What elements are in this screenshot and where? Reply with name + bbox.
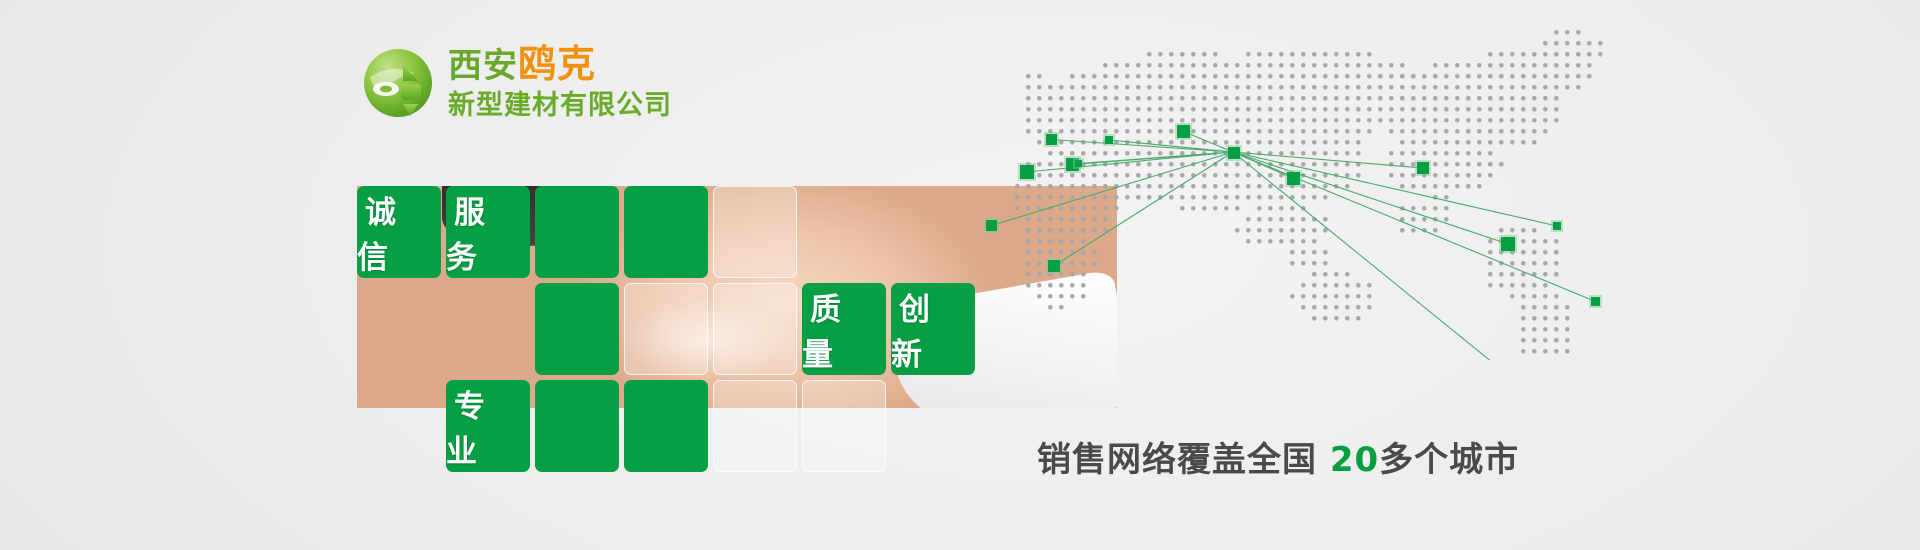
map-dot: [1235, 63, 1240, 68]
map-dot: [1103, 217, 1108, 222]
map-dot: [1323, 162, 1328, 167]
map-dot: [1048, 294, 1053, 299]
map-dot: [1026, 239, 1031, 244]
map-dot: [1510, 283, 1515, 288]
map-dot: [1312, 173, 1317, 178]
map-dot: [1037, 195, 1042, 200]
map-hub-node: [1226, 145, 1242, 161]
map-dot: [1246, 96, 1251, 101]
map-dot: [1488, 85, 1493, 90]
map-dot: [1532, 74, 1537, 79]
map-dot: [1587, 63, 1592, 68]
map-dot: [1433, 107, 1438, 112]
map-dot: [1521, 96, 1526, 101]
map-dot: [1367, 96, 1372, 101]
map-dot: [1246, 140, 1251, 145]
map-dot: [1378, 74, 1383, 79]
map-dot: [1334, 272, 1339, 277]
map-dot: [1312, 118, 1317, 123]
map-dot: [1400, 96, 1405, 101]
map-dot: [1543, 327, 1548, 332]
map-dot: [1411, 85, 1416, 90]
map-city-node: [1044, 132, 1059, 147]
map-dot: [1081, 228, 1086, 233]
map-dot: [1521, 52, 1526, 57]
map-dot: [1510, 140, 1515, 145]
map-dot: [1488, 96, 1493, 101]
map-dot: [1356, 316, 1361, 321]
map-dot: [1202, 195, 1207, 200]
map-dot: [1521, 349, 1526, 354]
map-dot: [1521, 129, 1526, 134]
map-dot: [1565, 63, 1570, 68]
map-dot: [1059, 206, 1064, 211]
map-dot: [1081, 283, 1086, 288]
map-dot: [1521, 261, 1526, 266]
map-dot: [1301, 140, 1306, 145]
map-dot: [1345, 85, 1350, 90]
map-dot: [1268, 195, 1273, 200]
map-dot: [1158, 140, 1163, 145]
map-dot: [1499, 140, 1504, 145]
map-dot: [1488, 261, 1493, 266]
map-dot: [1554, 349, 1559, 354]
map-dot: [1323, 283, 1328, 288]
map-dot: [1279, 151, 1284, 156]
map-dot: [1279, 217, 1284, 222]
map-dot: [1389, 173, 1394, 178]
map-dot: [1554, 41, 1559, 46]
map-dot: [1543, 305, 1548, 310]
map-dot: [1224, 63, 1229, 68]
map-dot: [1081, 118, 1086, 123]
map-dot: [1367, 129, 1372, 134]
map-dot: [1576, 30, 1581, 35]
map-dot: [1411, 162, 1416, 167]
map-dot: [1356, 129, 1361, 134]
map-dot: [1477, 74, 1482, 79]
map-dot: [1312, 140, 1317, 145]
map-dot: [1191, 184, 1196, 189]
map-dot: [1103, 195, 1108, 200]
map-dot: [1290, 107, 1295, 112]
map-dot: [1059, 294, 1064, 299]
map-dot: [1455, 85, 1460, 90]
value-tile-1-labeled: 服 务: [446, 186, 530, 278]
map-dot: [1367, 52, 1372, 57]
map-dot: [1103, 129, 1108, 134]
map-dot: [1312, 239, 1317, 244]
map-dot: [1081, 261, 1086, 266]
value-tile-label: 服 务: [446, 187, 530, 277]
map-dot: [1048, 85, 1053, 90]
map-dot: [1202, 63, 1207, 68]
map-dot: [1026, 195, 1031, 200]
map-dot: [1224, 184, 1229, 189]
map-dot: [1037, 118, 1042, 123]
company-logo[interactable]: 西安鸥克 新型建材有限公司: [362, 46, 672, 119]
map-dot: [1532, 118, 1537, 123]
map-dot: [1059, 195, 1064, 200]
map-dot: [1598, 41, 1603, 46]
map-dot: [1059, 107, 1064, 112]
map-dot: [1521, 239, 1526, 244]
map-dot: [1554, 338, 1559, 343]
map-dot: [1312, 74, 1317, 79]
map-dot: [1026, 206, 1031, 211]
map-dot: [1312, 316, 1317, 321]
map-dot: [1235, 118, 1240, 123]
map-dot: [1576, 74, 1581, 79]
map-dot: [1323, 261, 1328, 266]
map-dot: [1180, 140, 1185, 145]
map-dot: [1180, 85, 1185, 90]
map-dot: [1081, 85, 1086, 90]
map-dot: [1026, 250, 1031, 255]
map-dot: [1169, 195, 1174, 200]
map-dot: [1411, 118, 1416, 123]
map-dot: [1367, 305, 1372, 310]
map-dot: [1356, 294, 1361, 299]
map-dot: [1345, 96, 1350, 101]
map-dot: [1114, 195, 1119, 200]
map-dot: [1499, 272, 1504, 277]
map-dot: [1092, 107, 1097, 112]
sales-network-tagline: 销售网络覆盖全国 20多个城市: [1037, 432, 1519, 481]
map-dot: [1158, 85, 1163, 90]
map-dot: [1312, 305, 1317, 310]
map-dot: [1147, 74, 1152, 79]
map-dot: [1345, 74, 1350, 79]
map-dot: [1510, 294, 1515, 299]
map-dot: [1202, 96, 1207, 101]
map-dot: [1334, 52, 1339, 57]
map-dot: [1147, 85, 1152, 90]
map-dot: [1400, 140, 1405, 145]
map-dot: [1279, 195, 1284, 200]
map-dot: [1323, 129, 1328, 134]
map-dot: [1191, 195, 1196, 200]
map-dot: [1488, 173, 1493, 178]
map-dot: [1532, 338, 1537, 343]
map-dot: [1257, 118, 1262, 123]
map-dot: [1147, 52, 1152, 57]
map-dot: [1092, 151, 1097, 156]
map-dot: [1213, 107, 1218, 112]
map-dot: [1565, 30, 1570, 35]
map-dot: [1323, 250, 1328, 255]
map-dot: [1257, 52, 1262, 57]
map-dot: [1224, 96, 1229, 101]
map-dot: [1466, 129, 1471, 134]
map-dot: [1070, 129, 1075, 134]
map-dot: [1235, 107, 1240, 112]
map-dot: [1092, 228, 1097, 233]
map-dot: [1488, 140, 1493, 145]
map-dot: [1455, 140, 1460, 145]
map-dot: [1268, 239, 1273, 244]
map-dot: [1268, 63, 1273, 68]
map-dot: [1543, 96, 1548, 101]
map-dot: [1455, 173, 1460, 178]
map-dot: [1323, 294, 1328, 299]
map-connection-line: [1233, 152, 1557, 226]
map-dot: [1246, 195, 1251, 200]
map-dot: [1092, 250, 1097, 255]
map-dot: [1092, 96, 1097, 101]
map-dot: [1587, 52, 1592, 57]
value-tile-label: 诚 信: [357, 187, 441, 277]
map-dot: [1543, 250, 1548, 255]
map-connection-line: [1079, 152, 1234, 164]
map-dot: [1521, 327, 1526, 332]
map-dot: [1125, 151, 1130, 156]
map-dot: [1103, 151, 1108, 156]
map-dot: [1422, 206, 1427, 211]
map-dot: [1400, 173, 1405, 178]
map-dot: [1543, 52, 1548, 57]
map-dot: [1235, 162, 1240, 167]
map-dot: [1059, 96, 1064, 101]
map-dot: [1554, 85, 1559, 90]
map-dot: [1224, 195, 1229, 200]
map-dot: [1092, 195, 1097, 200]
map-dot: [1323, 52, 1328, 57]
map-dot: [1070, 228, 1075, 233]
map-dot: [1048, 151, 1053, 156]
map-dot: [1257, 151, 1262, 156]
map-dot: [1477, 85, 1482, 90]
map-dot: [1411, 74, 1416, 79]
map-dot: [1180, 107, 1185, 112]
map-dot: [1070, 283, 1075, 288]
logo-city-name: 西安: [448, 47, 518, 85]
map-dot: [1048, 96, 1053, 101]
map-dot: [1455, 162, 1460, 167]
map-dot: [1169, 140, 1174, 145]
map-dot: [1092, 173, 1097, 178]
map-dot: [1532, 129, 1537, 134]
map-dot: [1037, 184, 1042, 189]
map-dot: [1466, 151, 1471, 156]
map-dot: [1433, 74, 1438, 79]
map-dot: [1026, 184, 1031, 189]
map-dot: [1092, 85, 1097, 90]
map-dot: [1268, 107, 1273, 112]
map-dot: [1433, 140, 1438, 145]
map-connection-line: [1233, 152, 1546, 360]
map-dot: [1070, 85, 1075, 90]
map-dot: [1488, 107, 1493, 112]
map-dot: [1037, 228, 1042, 233]
map-dot: [1081, 272, 1086, 277]
map-dot: [1158, 52, 1163, 57]
map-city-node: [1073, 158, 1084, 169]
map-dot: [1235, 173, 1240, 178]
map-dot: [1037, 283, 1042, 288]
map-dot: [1169, 151, 1174, 156]
map-dot: [1224, 162, 1229, 167]
map-dot: [1213, 173, 1218, 178]
map-dot: [1455, 118, 1460, 123]
map-dot: [1125, 129, 1130, 134]
map-dot: [1048, 283, 1053, 288]
map-dot: [1356, 96, 1361, 101]
map-dot: [1499, 283, 1504, 288]
map-dot: [1235, 74, 1240, 79]
map-dot: [1202, 118, 1207, 123]
map-dot: [1235, 85, 1240, 90]
map-dot: [1147, 107, 1152, 112]
map-dot: [1279, 184, 1284, 189]
map-dot: [1103, 184, 1108, 189]
map-dot: [1015, 206, 1020, 211]
value-tile-12: [624, 380, 708, 472]
map-dot: [1301, 107, 1306, 112]
map-dot: [1411, 96, 1416, 101]
map-dot: [1444, 151, 1449, 156]
map-dot: [1466, 140, 1471, 145]
map-dot: [1246, 63, 1251, 68]
map-dot: [1279, 107, 1284, 112]
map-dot: [1312, 129, 1317, 134]
map-dot: [1026, 283, 1031, 288]
map-dot: [1312, 250, 1317, 255]
map-dot: [1169, 162, 1174, 167]
map-dot: [1202, 107, 1207, 112]
map-dot: [1136, 173, 1141, 178]
map-dot: [1400, 118, 1405, 123]
map-dot: [1070, 173, 1075, 178]
map-dot: [1235, 195, 1240, 200]
map-dot: [1103, 118, 1108, 123]
map-dot: [1444, 129, 1449, 134]
map-dot: [1136, 195, 1141, 200]
map-dot: [1576, 41, 1581, 46]
map-dot: [1422, 74, 1427, 79]
map-dot: [1103, 63, 1108, 68]
map-dot: [1312, 272, 1317, 277]
map-dot: [1433, 184, 1438, 189]
map-dot: [1521, 74, 1526, 79]
map-dot: [1565, 52, 1570, 57]
map-dot: [1290, 217, 1295, 222]
map-dot: [1279, 96, 1284, 101]
map-city-node: [984, 218, 999, 233]
map-dot: [1433, 96, 1438, 101]
map-dot: [1147, 162, 1152, 167]
map-dot: [1532, 316, 1537, 321]
map-dot: [1048, 239, 1053, 244]
map-dot: [1279, 63, 1284, 68]
map-dot: [1213, 184, 1218, 189]
map-dot: [1092, 206, 1097, 211]
map-dot: [1290, 129, 1295, 134]
map-dot: [1169, 52, 1174, 57]
map-dot: [1290, 74, 1295, 79]
map-dot: [1477, 63, 1482, 68]
map-dot: [1246, 118, 1251, 123]
map-dot: [1158, 118, 1163, 123]
map-dot: [1499, 118, 1504, 123]
map-dot: [1356, 305, 1361, 310]
map-dot: [1147, 96, 1152, 101]
map-dot: [1037, 294, 1042, 299]
map-dot: [1323, 63, 1328, 68]
map-dot: [1202, 129, 1207, 134]
map-dot: [1103, 96, 1108, 101]
map-dot: [1400, 184, 1405, 189]
map-dot: [1521, 250, 1526, 255]
map-dot: [1466, 96, 1471, 101]
map-dot: [1334, 305, 1339, 310]
map-dot: [1081, 239, 1086, 244]
map-dot: [1488, 118, 1493, 123]
map-dot: [1169, 96, 1174, 101]
map-dot: [1081, 217, 1086, 222]
map-dot: [1466, 74, 1471, 79]
map-dot: [1499, 228, 1504, 233]
map-dot: [1576, 63, 1581, 68]
map-dot: [1554, 239, 1559, 244]
map-dot: [1477, 118, 1482, 123]
map-dot: [1048, 118, 1053, 123]
map-dot: [1422, 217, 1427, 222]
map-dot: [1488, 272, 1493, 277]
map-dot: [1312, 107, 1317, 112]
map-dot: [1488, 52, 1493, 57]
map-dot: [1180, 74, 1185, 79]
map-dot: [1323, 151, 1328, 156]
map-dot: [1136, 162, 1141, 167]
map-dot: [1521, 283, 1526, 288]
map-dot: [1543, 338, 1548, 343]
map-dot: [1158, 74, 1163, 79]
map-dot: [1081, 151, 1086, 156]
map-dot: [1070, 118, 1075, 123]
map-dot: [1323, 184, 1328, 189]
tagline-prefix: 销售网络覆盖全国: [1037, 440, 1317, 480]
map-dot: [1246, 173, 1251, 178]
map-dot: [1510, 228, 1515, 233]
map-dot: [1257, 96, 1262, 101]
map-dot: [1202, 184, 1207, 189]
map-dot: [1356, 63, 1361, 68]
map-dot: [1389, 63, 1394, 68]
map-dot: [1323, 107, 1328, 112]
map-dot: [1136, 96, 1141, 101]
map-dot: [1323, 316, 1328, 321]
map-dot: [1433, 162, 1438, 167]
map-dot: [1334, 129, 1339, 134]
map-dot: [1180, 195, 1185, 200]
map-dot: [1433, 151, 1438, 156]
map-dot: [1565, 74, 1570, 79]
map-dot: [1158, 129, 1163, 134]
map-dot: [1312, 96, 1317, 101]
map-dot: [1015, 195, 1020, 200]
map-dot: [1037, 250, 1042, 255]
map-dot: [1521, 140, 1526, 145]
map-city-node: [1499, 235, 1517, 253]
map-dot: [1180, 63, 1185, 68]
map-dot: [1213, 52, 1218, 57]
map-dot: [1554, 96, 1559, 101]
map-dot: [1059, 250, 1064, 255]
map-dot: [1411, 151, 1416, 156]
map-dot: [1510, 272, 1515, 277]
map-dot: [1499, 162, 1504, 167]
